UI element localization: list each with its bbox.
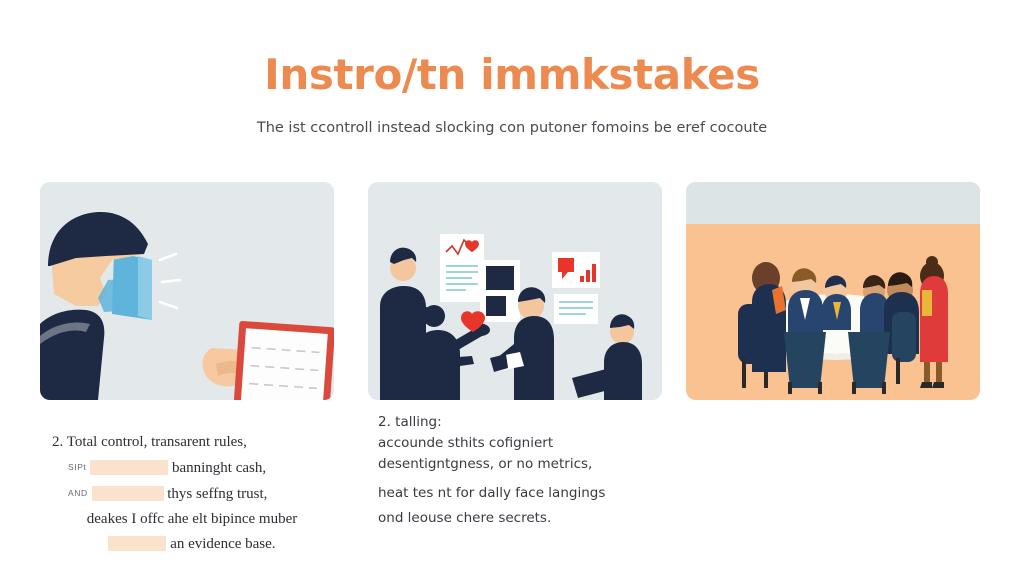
redaction-highlight-1: [90, 460, 168, 475]
caption-left-line-2: SIPt banninght cash,: [42, 455, 342, 481]
caption-left-line-3: AND thys seffng trust,: [42, 481, 342, 507]
caption-middle-line-4: heat tes nt for dally face langings: [378, 481, 678, 506]
illustration-panel-team-data-review: [368, 182, 662, 400]
caption-left-line-4: deakes I offc ahe elt bipince muber: [42, 507, 342, 532]
caption-left-line-2-text: banninght cash,: [172, 460, 266, 476]
team-data-review-illustration: [368, 182, 662, 400]
caption-middle-line-3: desentigntgness, or no metrics,: [378, 454, 678, 475]
caption-middle-line-1: 2. talling:: [378, 412, 678, 433]
caption-left-line-5-text: an evidence base.: [170, 536, 275, 552]
caption-left-line-1: 2. Total control, transarent rules,: [42, 430, 342, 455]
illustration-panel-shouting-person: [40, 182, 334, 400]
caption-left-smallcap-1: SIPt: [68, 462, 86, 472]
page-title: Instro/tn immkstakes: [0, 50, 1024, 99]
caption-left-smallcap-2: AND: [68, 488, 88, 498]
caption-left-line-5: an evidence base.: [42, 532, 342, 557]
round-table-meeting-illustration: [686, 182, 980, 400]
caption-middle-line-5: ond leouse chere secrets.: [378, 506, 678, 531]
illustration-panel-round-table-meeting: [686, 182, 980, 400]
caption-left: 2. Total control, transarent rules, SIPt…: [42, 430, 342, 557]
caption-middle-line-2: accounde sthits cofigniert: [378, 433, 678, 454]
shouting-person-illustration: [40, 182, 334, 400]
redaction-highlight-2: [92, 486, 164, 501]
redaction-highlight-3: [108, 536, 166, 551]
slide-canvas: Instro/tn immkstakes The ist ccontroll i…: [0, 0, 1024, 585]
caption-left-line-3-text: thys seffng trust,: [167, 486, 267, 502]
page-subtitle: The ist ccontroll instead slocking con p…: [0, 120, 1024, 136]
caption-middle: 2. talling: accounde sthits cofigniert d…: [378, 412, 678, 531]
